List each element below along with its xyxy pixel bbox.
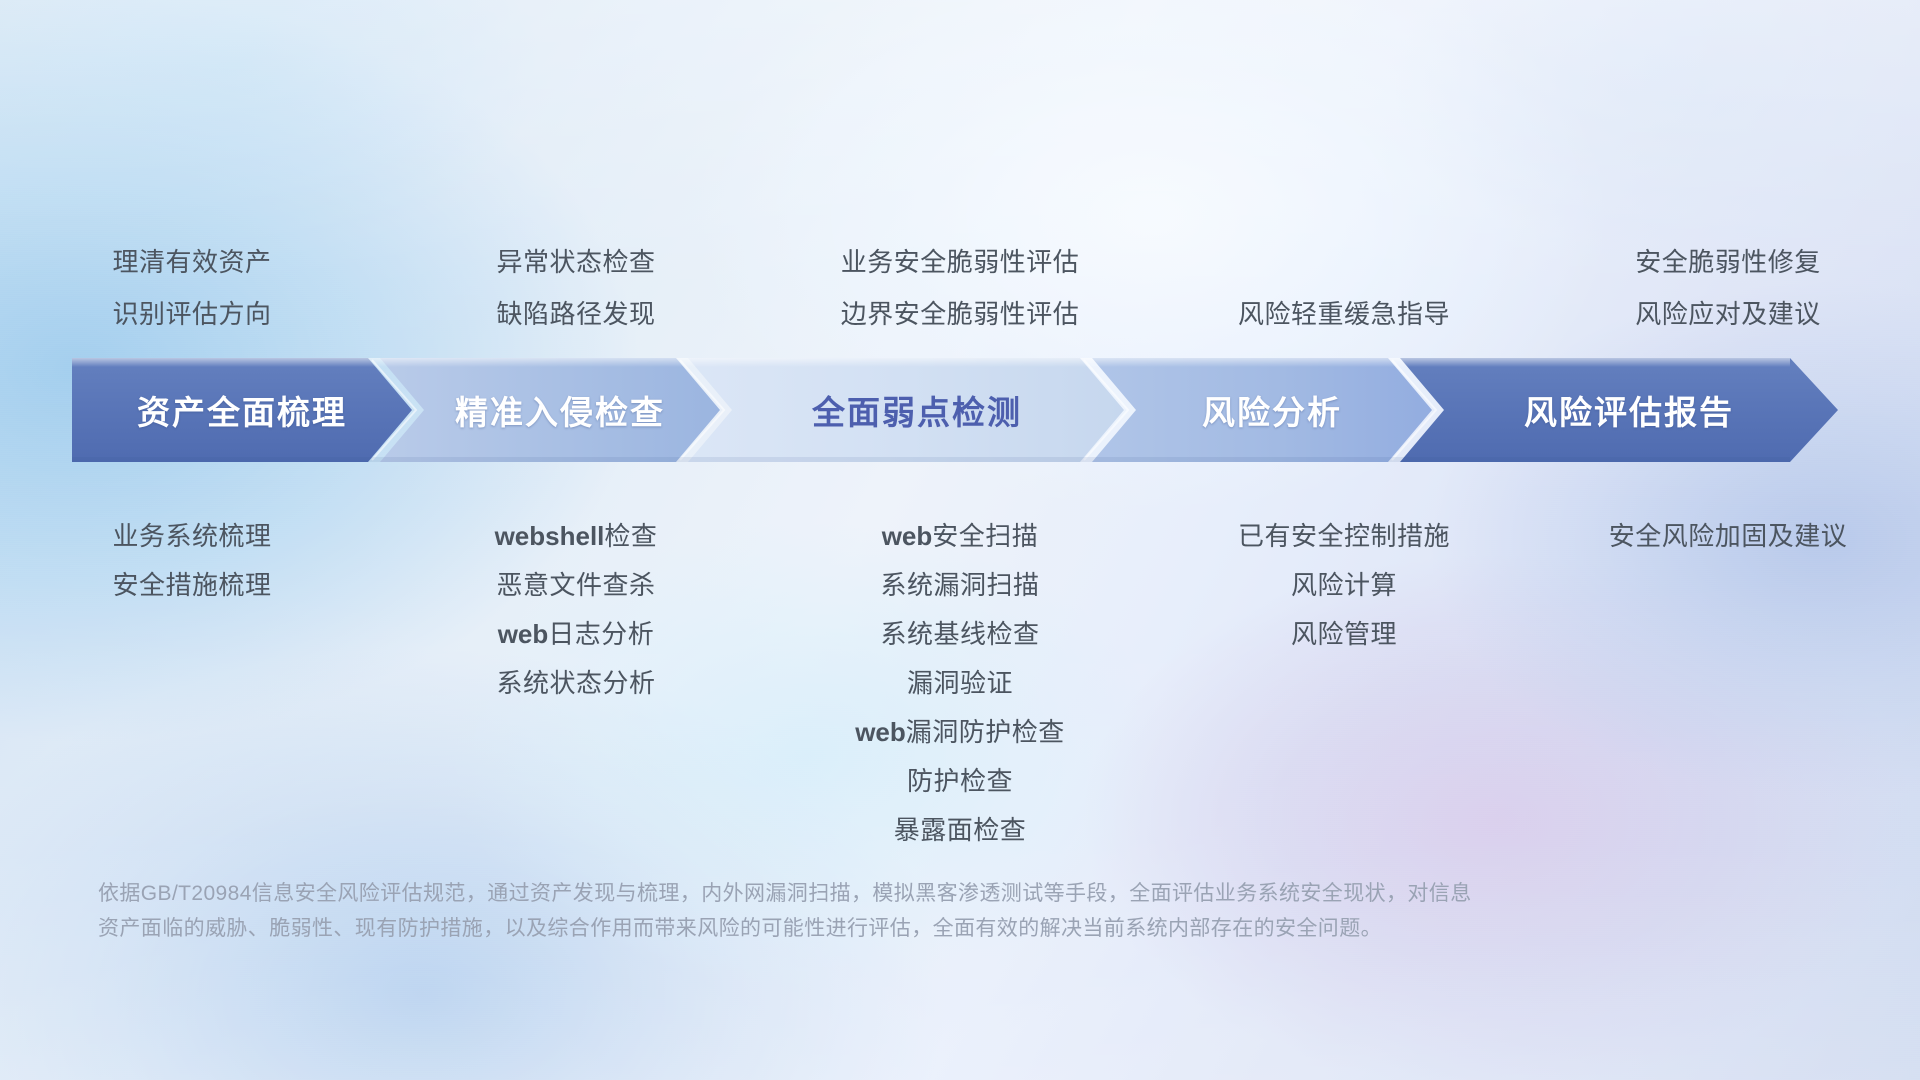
process-diagram: 理清有效资产识别评估方向异常状态检查缺陷路径发现业务安全脆弱性评估边界安全脆弱性… [0,0,1920,1080]
stage-item-latin: web [882,521,933,551]
stage-item: web安全扫描 [882,512,1039,561]
stage-item: 风险计算 [1291,561,1397,610]
chevron-bottom-shade [72,457,1790,462]
footnote: 依据GB/T20984信息安全风险评估规范，通过资产发现与梳理，内外网漏洞扫描，… [98,876,1658,946]
stage-item: webshell检查 [495,512,658,561]
stage-item: 风险管理 [1291,610,1397,659]
stage-top-captions-risk-analysis: 风险轻重缓急指导 [1152,236,1536,340]
stage-top-caption: 风险应对及建议 [1635,288,1821,340]
stage-item: web日志分析 [498,610,655,659]
stage-item-latin: webshell [495,521,605,551]
stage-top-caption: 风险轻重缓急指导 [1238,288,1450,340]
stage-item: 防护检查 [907,757,1013,806]
chevron-shape-stage-2[interactable] [380,358,720,462]
stage-top-caption: 业务安全脆弱性评估 [841,236,1080,288]
stage-item: 已有安全控制措施 [1238,512,1450,561]
stage-item-text: 检查 [604,521,657,551]
stage-item: 系统基线检查 [880,610,1039,659]
stage-top-caption: 缺陷路径发现 [496,288,655,340]
stage-item: web漏洞防护检查 [855,708,1065,757]
stage-top-captions-asset-inventory: 理清有效资产识别评估方向 [0,236,384,340]
stage-top-caption: 识别评估方向 [112,288,271,340]
stage-bottom-items-asset-inventory: 业务系统梳理安全措施梳理 [0,512,384,610]
chevron-top-sheen [72,358,1790,367]
stage-item-text: 漏洞防护检查 [906,717,1065,747]
stage-item: 安全措施梳理 [112,561,271,610]
chevron-band-svg [0,358,1920,462]
chevron-shape-stage-5[interactable] [1400,358,1838,462]
stage-top-caption: 安全脆弱性修复 [1635,236,1821,288]
stage-bottom-items-risk-report: 安全风险加固及建议 [1536,512,1920,561]
stage-bottom-items-intrusion-check: webshell检查恶意文件查杀web日志分析系统状态分析 [384,512,768,708]
stage-item-latin: web [855,717,906,747]
stage-top-captions-risk-report: 安全脆弱性修复风险应对及建议 [1536,236,1920,340]
stage-item: 系统漏洞扫描 [880,561,1039,610]
stage-item: 恶意文件查杀 [496,561,655,610]
stage-item: 系统状态分析 [496,659,655,708]
footnote-line-2: 资产面临的威胁、脆弱性、现有防护措施，以及综合作用而带来风险的可能性进行评估，全… [98,911,1658,946]
chevron-shape-stage-3[interactable] [688,358,1124,462]
stage-item: 暴露面检查 [894,806,1027,855]
stage-top-caption: 理清有效资产 [112,236,271,288]
stage-bottom-items-risk-analysis: 已有安全控制措施风险计算风险管理 [1152,512,1536,659]
stage-top-caption: 异常状态检查 [496,236,655,288]
stage-item-latin: web [498,619,549,649]
stage-chevron-band: 资产全面梳理精准入侵检查全面弱点检测风险分析风险评估报告 [0,358,1920,462]
stage-item: 业务系统梳理 [112,512,271,561]
stage-item: 安全风险加固及建议 [1609,512,1848,561]
stage-bottom-items-weakness-detection: web安全扫描系统漏洞扫描系统基线检查漏洞验证web漏洞防护检查防护检查暴露面检… [768,512,1152,855]
chevron-shape-stage-4[interactable] [1092,358,1432,462]
stage-item-text: 日志分析 [548,619,654,649]
stage-bottom-items-row: 业务系统梳理安全措施梳理webshell检查恶意文件查杀web日志分析系统状态分… [0,512,1920,855]
footnote-line-1: 依据GB/T20984信息安全风险评估规范，通过资产发现与梳理，内外网漏洞扫描，… [98,876,1658,911]
stage-item-text: 安全扫描 [932,521,1038,551]
chevron-shape-stage-1[interactable] [72,358,412,462]
stage-top-captions-intrusion-check: 异常状态检查缺陷路径发现 [384,236,768,340]
stage-top-captions-weakness-detection: 业务安全脆弱性评估边界安全脆弱性评估 [768,236,1152,340]
stage-item: 漏洞验证 [907,659,1013,708]
stage-top-captions-row: 理清有效资产识别评估方向异常状态检查缺陷路径发现业务安全脆弱性评估边界安全脆弱性… [0,236,1920,340]
stage-top-caption: 边界安全脆弱性评估 [841,288,1080,340]
